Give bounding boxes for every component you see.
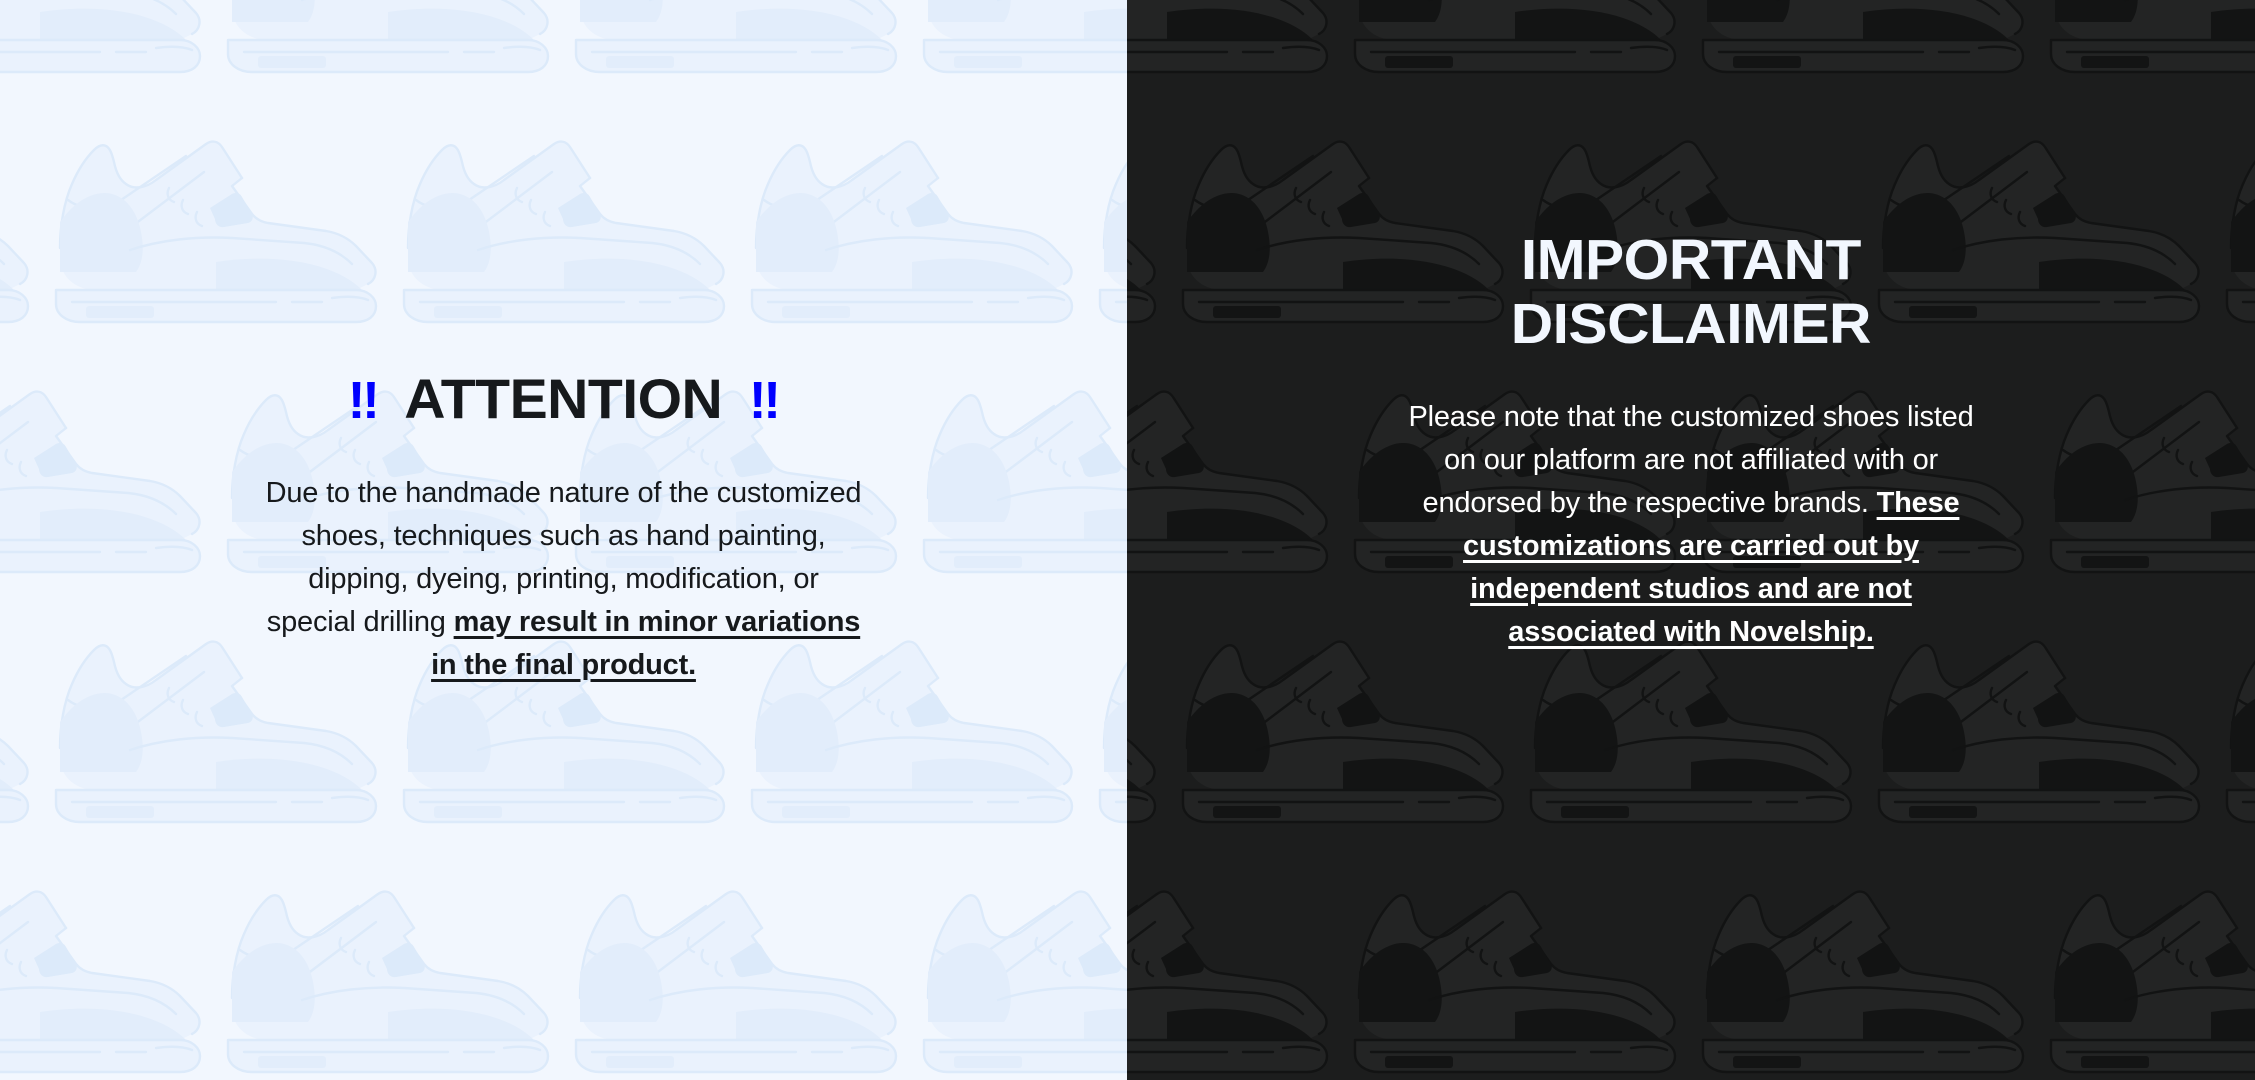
double-exclamation-left-icon: ‼ [348, 375, 378, 427]
double-exclamation-right-icon: ‼ [749, 375, 779, 427]
attention-panel: ‼ ATTENTION ‼ Due to the handmade nature… [0, 0, 1127, 1080]
disclaimer-body: Please note that the customized shoes li… [1393, 396, 1989, 654]
attention-body: Due to the handmade nature of the custom… [266, 472, 862, 687]
attention-content: ‼ ATTENTION ‼ Due to the handmade nature… [0, 0, 1127, 1080]
disclaimer-panel: IMPORTANT DISCLAIMER Please note that th… [1127, 0, 2255, 1080]
disclaimer-heading-line1: IMPORTANT [1521, 228, 1861, 292]
disclaimer-heading: IMPORTANT DISCLAIMER [1511, 228, 1871, 356]
attention-body-emphasized: may result in minor variations in the fi… [431, 606, 860, 681]
disclaimer-heading-line2: DISCLAIMER [1511, 292, 1871, 356]
attention-heading: ‼ ATTENTION ‼ [348, 368, 779, 430]
attention-heading-text: ATTENTION [404, 368, 722, 430]
disclaimer-content: IMPORTANT DISCLAIMER Please note that th… [1127, 0, 2255, 1080]
